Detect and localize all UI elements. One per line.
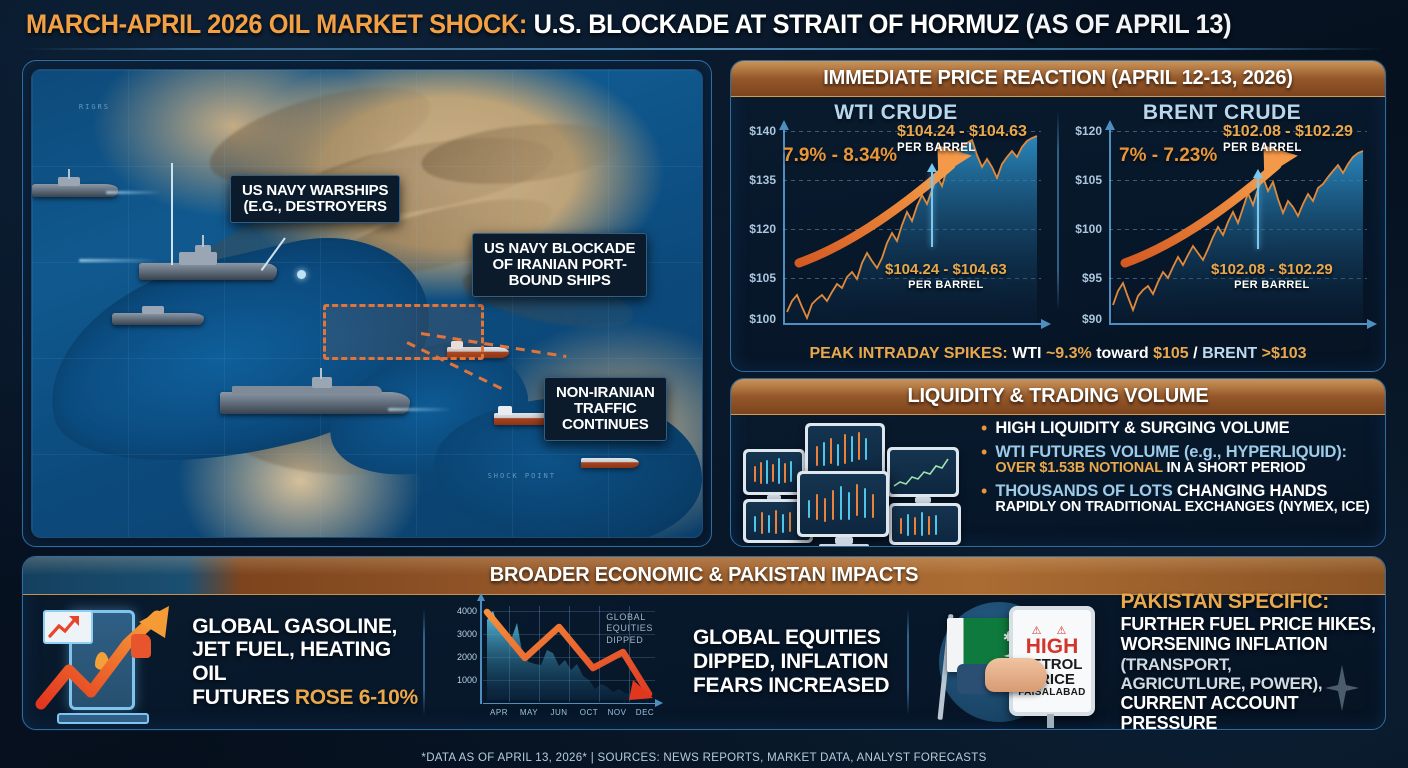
liquidity-b3-sub: RAPIDLY ON TRADITIONAL EXCHANGES (NYMEX,…: [995, 500, 1369, 516]
trading-monitors-illustration: [743, 421, 965, 541]
wti-chart-block: WTI CRUDE $140 $135 $120 $105 $100: [737, 101, 1055, 369]
monitor-right-bottom: [889, 503, 961, 545]
liquidity-bullet-1: • HIGH LIQUIDITY & SURGING VOLUME: [981, 419, 1375, 438]
equities-chart-note: GLOBAL EQUITIES DIPPED: [606, 612, 653, 646]
equities-line-3: FEARS INCREASED: [693, 674, 889, 698]
peak-label: PEAK INTRADAY SPIKES:: [809, 345, 1007, 363]
callout-traffic-line-3: CONTINUES: [556, 417, 655, 433]
wti-ytick-105: $105: [749, 271, 776, 285]
price-panel-title: IMMEDIATE PRICE REACTION: [823, 67, 1106, 89]
peak-brent-price: >$103: [1262, 345, 1307, 363]
peak-wti-pct: ~9.3%: [1046, 345, 1092, 363]
callout-traffic-line-1: NON-IRANIAN: [556, 385, 655, 401]
brent-ytick-105: $105: [1075, 173, 1102, 187]
liquidity-panel-title: LIQUIDITY & TRADING VOLUME: [907, 385, 1208, 408]
wti-percent-change: 7.9% - 8.34%: [783, 145, 897, 167]
brent-chart-block: BRENT CRUDE $120 $105 $100 $95 $90: [1063, 101, 1381, 369]
equities-impact-cell: 4000 3000 2000 1000: [423, 595, 907, 729]
callout-blockade-line-3: BOUND SHIPS: [484, 273, 635, 289]
equities-xtick-may: MAY: [520, 708, 538, 717]
pakistan-line-1: FURTHER FUEL PRICE HIKES,: [1121, 614, 1386, 634]
map-image: RIGRS SHOCK POINT: [31, 69, 703, 538]
brent-ytick-100: $100: [1075, 222, 1102, 236]
wti-value-bottom: $104.24 - $104.63 PER BARREL: [885, 261, 1007, 291]
infographic-root: MARCH-APRIL 2026 OIL MARKET SHOCK: U.S. …: [0, 0, 1408, 768]
title-part-1: MARCH-APRIL 2026 OIL MARKET SHOCK:: [26, 9, 527, 39]
equities-line-1: GLOBAL EQUITIES: [693, 626, 889, 650]
callout-traffic-line-2: TRAFFIC: [556, 401, 655, 417]
equities-plot: 4000 3000 2000 1000: [483, 606, 655, 702]
fuel-impact-cell: GLOBAL GASOLINE, JET FUEL, HEATING OIL F…: [23, 595, 423, 729]
price-panel-subtitle: (APRIL 12-13, 2026): [1111, 67, 1292, 89]
price-reaction-panel: IMMEDIATE PRICE REACTION (APRIL 12-13, 2…: [730, 60, 1386, 372]
blockade-zone: [323, 304, 484, 360]
broader-impacts-title: BROADER ECONOMIC & PAKISTAN IMPACTS: [490, 564, 919, 587]
equities-ytick-1000: 1000: [457, 675, 477, 685]
peak-separator: /: [1193, 345, 1197, 363]
wti-callout-arrow: [931, 171, 933, 247]
sign-high: HIGH: [1013, 637, 1091, 657]
peak-intraday-strip: PEAK INTRADAY SPIKES: WTI ~9.3% toward $…: [741, 341, 1375, 367]
callout-non-iranian-traffic[interactable]: NON-IRANIAN TRAFFIC CONTINUES: [544, 377, 667, 441]
callout-blockade-line-2: OF IRANIAN PORT-: [484, 257, 635, 273]
footer-sources: *DATA AS OF APRIL 13, 2026* | SOURCES: N…: [0, 752, 1408, 764]
broader-impacts-body: GLOBAL GASOLINE, JET FUEL, HEATING OIL F…: [23, 595, 1385, 729]
pakistan-heading: PAKISTAN SPECIFIC:: [1121, 590, 1386, 614]
map-watermark-1: RIGRS: [79, 103, 110, 111]
compass-icon: [1325, 665, 1359, 711]
bullet-dot-icon: •: [981, 419, 987, 438]
callout-blockade-line-1: US NAVY BLOCKADE: [484, 241, 635, 257]
peak-wti-pre: WTI: [1012, 345, 1041, 363]
brent-ytick-120: $120: [1075, 124, 1102, 138]
wti-value-top-unit: PER BARREL: [897, 142, 1027, 154]
equities-xtick-jun: JUN: [550, 708, 567, 717]
liquidity-b1-text: HIGH LIQUIDITY & SURGING VOLUME: [995, 419, 1289, 437]
pakistan-line-2: WORSENING INFLATION: [1121, 634, 1386, 654]
wti-ytick-135: $135: [749, 173, 776, 187]
peak-wti-price: $105: [1153, 345, 1189, 363]
equities-chart: 4000 3000 2000 1000: [439, 596, 675, 728]
brent-ytick-90: $90: [1082, 312, 1102, 326]
peak-toward: toward: [1096, 345, 1148, 363]
liquidity-b2-sub-white: IN A SHORT PERIOD: [1167, 460, 1306, 476]
equities-xtick-oct: OCT: [580, 708, 598, 717]
liquidity-bullet-3: • THOUSANDS OF LOTS CHANGING HANDS RAPID…: [981, 482, 1375, 516]
wti-value-top: $104.24 - $104.63 PER BARREL: [897, 123, 1027, 154]
equities-impact-text: GLOBAL EQUITIES DIPPED, INFLATION FEARS …: [693, 626, 889, 697]
aircraft-carrier: [220, 378, 410, 418]
wti-value-bottom-unit: PER BARREL: [885, 279, 1007, 291]
bullet-dot-icon: •: [981, 482, 987, 516]
map-panel: RIGRS SHOCK POINT: [22, 60, 712, 547]
monitor-center-main: [797, 471, 889, 537]
fuel-line-3-value: ROSE 6-10%: [295, 686, 418, 709]
wti-ytick-100: $100: [749, 312, 776, 326]
fuel-line-1: GLOBAL GASOLINE,: [192, 615, 423, 639]
callout-warships-line-2: (E.G., DESTROYERS: [242, 199, 388, 215]
liquidity-b2-text: WTI FUTURES VOLUME (e.g., HYPERLIQUID):: [995, 443, 1347, 461]
bullet-dot-icon: •: [981, 443, 987, 477]
rising-price-arrow-icon: [35, 600, 185, 724]
liquidity-bullets: • HIGH LIQUIDITY & SURGING VOLUME • WTI …: [981, 419, 1375, 521]
title-part-2: U.S. BLOCKADE AT STRAIT OF HORMUZ: [534, 9, 1019, 39]
callout-us-navy-blockade[interactable]: US NAVY BLOCKADE OF IRANIAN PORT- BOUND …: [472, 233, 647, 297]
equities-xtick-nov: NOV: [608, 708, 627, 717]
title-divider: [24, 48, 1384, 50]
gas-pump-icon: [35, 600, 180, 724]
warship-2: [139, 247, 277, 283]
pointing-hand-icon: [985, 658, 1047, 692]
equities-xtick-apr: APR: [490, 708, 508, 717]
leader-line-warships: [171, 163, 173, 265]
fuel-line-2: JET FUEL, HEATING OIL: [192, 638, 423, 685]
sign-post: [1047, 714, 1054, 728]
liquidity-b3-blue: THOUSANDS OF LOTS: [995, 482, 1177, 500]
brent-value-top: $102.08 - $102.29 PER BARREL: [1223, 123, 1353, 154]
liquidity-b3-white: CHANGING HANDS: [1177, 482, 1327, 500]
callout-warships-line-1: US NAVY WARSHIPS: [242, 183, 388, 199]
liquidity-bullet-2: • WTI FUTURES VOLUME (e.g., HYPERLIQUID)…: [981, 443, 1375, 477]
leader-dot-blockade: [297, 270, 306, 279]
equities-ytick-3000: 3000: [457, 629, 477, 639]
callout-us-navy-warships[interactable]: US NAVY WARSHIPS (E.G., DESTROYERS: [230, 175, 400, 223]
pakistan-fuel-sign-illustration: ✱ ⚠ ⚠ HIGH PETROL PRICE FAISALABAD: [921, 596, 1111, 728]
tanker-3: [581, 453, 639, 469]
equities-ytick-4000: 4000: [457, 606, 477, 616]
wti-ytick-140: $140: [749, 124, 776, 138]
equities-xtick-dec: DEC: [636, 708, 654, 717]
monitor-left-top: [743, 449, 805, 495]
liquidity-panel-body: • HIGH LIQUIDITY & SURGING VOLUME • WTI …: [731, 415, 1385, 546]
peak-brent-pre: BRENT: [1202, 345, 1257, 363]
brent-value-bottom-unit: PER BARREL: [1211, 279, 1333, 291]
brent-callout-arrow: [1257, 177, 1259, 249]
warship-1: [32, 173, 118, 199]
brent-value-bottom: $102.08 - $102.29 PER BARREL: [1211, 261, 1333, 291]
chart-divider: [1057, 111, 1059, 311]
monitor-right-top: [887, 447, 959, 497]
brent-ytick-95: $95: [1082, 271, 1102, 285]
equities-line-2: DIPPED, INFLATION: [693, 650, 889, 674]
liquidity-b2-sub-orange: OVER $1.53B NOTIONAL: [995, 460, 1166, 476]
pakistan-impact-cell: ✱ ⚠ ⚠ HIGH PETROL PRICE FAISALABAD PAKIS…: [907, 595, 1385, 729]
broader-impacts-panel: BROADER ECONOMIC & PAKISTAN IMPACTS: [22, 556, 1386, 730]
fuel-line-3-label: FUTURES: [192, 686, 295, 709]
brent-value-top-unit: PER BARREL: [1223, 142, 1353, 154]
price-panel-header: IMMEDIATE PRICE REACTION (APRIL 12-13, 2…: [731, 61, 1385, 97]
map-watermark-2: SHOCK POINT: [488, 472, 556, 480]
liquidity-panel: LIQUIDITY & TRADING VOLUME: [730, 378, 1386, 547]
equities-ytick-2000: 2000: [457, 652, 477, 662]
price-panel-body: WTI CRUDE $140 $135 $120 $105 $100: [731, 97, 1385, 372]
warship-3: [112, 304, 204, 326]
brent-percent-change: 7% - 7.23%: [1119, 145, 1217, 167]
page-title: MARCH-APRIL 2026 OIL MARKET SHOCK: U.S. …: [0, 0, 1408, 48]
wti-ytick-120: $120: [749, 222, 776, 236]
fuel-impact-text: GLOBAL GASOLINE, JET FUEL, HEATING OIL F…: [192, 615, 423, 710]
title-part-3: (AS OF APRIL 13): [1026, 9, 1232, 39]
liquidity-panel-header: LIQUIDITY & TRADING VOLUME: [731, 379, 1385, 415]
